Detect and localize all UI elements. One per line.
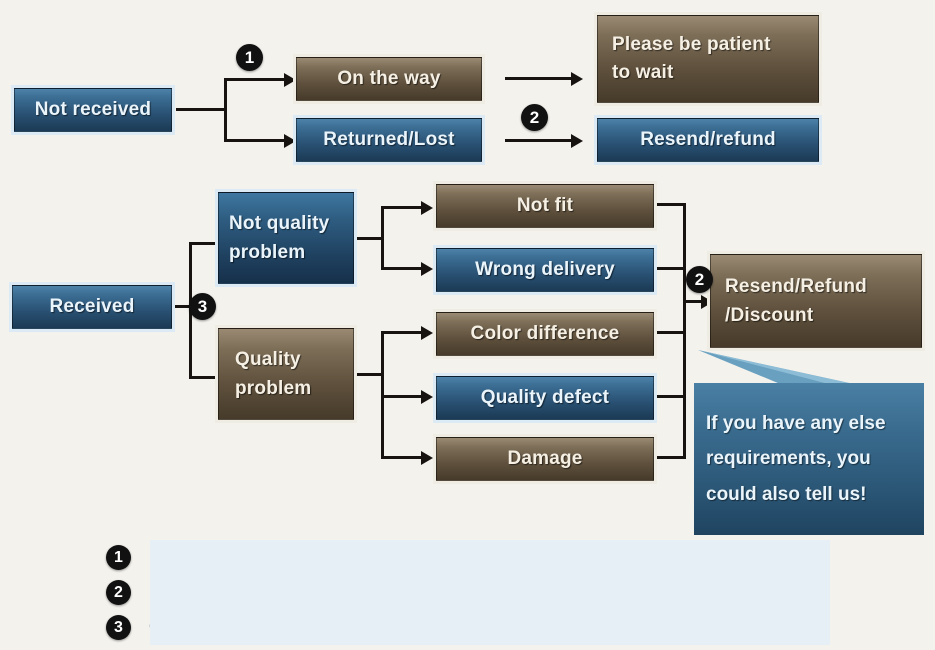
arrowhead-wrong-delivery	[421, 262, 433, 276]
connector-to-color-difference	[381, 331, 423, 334]
node-color-difference[interactable]: Color difference	[436, 312, 654, 356]
merge-stub-quality-defect	[655, 395, 685, 398]
connector-not-received-split	[224, 78, 227, 142]
node-not-received[interactable]: Not received	[14, 88, 172, 132]
legend-badge-2-number: 2	[114, 585, 123, 601]
node-resend-refund-discount-line2: /Discount	[725, 301, 813, 330]
node-not-quality-problem[interactable]: Not quality problem	[218, 192, 354, 284]
badge-step-1: 1	[236, 44, 263, 71]
node-not-fit[interactable]: Not fit	[436, 184, 654, 228]
badge-step-1-number: 1	[245, 49, 254, 66]
badge-step-2-merge-number: 2	[695, 271, 704, 288]
legend-badge-2: 2	[106, 580, 131, 605]
connector-not-quality-split	[381, 206, 384, 269]
connector-to-wrong-delivery	[381, 267, 423, 270]
callout-line3: could also tell us!	[706, 477, 912, 512]
connector-returned-to-resend	[505, 139, 573, 142]
badge-step-2-top: 2	[521, 104, 548, 131]
badge-step-3: 3	[189, 293, 216, 320]
connector-to-not-fit	[381, 206, 423, 209]
callout-extra-requirements: If you have any else requirements, you c…	[694, 383, 924, 535]
node-wrong-delivery[interactable]: Wrong delivery	[436, 248, 654, 292]
connector-quality-stem	[355, 373, 383, 376]
badge-step-3-number: 3	[198, 298, 207, 315]
merge-stub-wrong-delivery	[655, 267, 685, 270]
connector-to-on-the-way	[224, 78, 286, 81]
arrowhead-patient	[571, 72, 583, 86]
node-please-be-patient[interactable]: Please be patient to wait	[597, 15, 819, 103]
node-returned-lost-label: Returned/Lost	[323, 129, 454, 151]
node-quality-defect[interactable]: Quality defect	[436, 376, 654, 420]
node-not-received-label: Not received	[35, 99, 151, 121]
connector-to-damage	[381, 456, 423, 459]
arrowhead-returned-lost	[284, 134, 296, 148]
legend-badge-3: 3	[106, 615, 131, 640]
legend-badge-3-number: 3	[114, 620, 123, 636]
arrowhead-resend-refund	[571, 134, 583, 148]
node-resend-refund-discount-line1: Resend/Refund	[725, 272, 867, 301]
node-received-label: Received	[49, 296, 134, 318]
node-damage[interactable]: Damage	[436, 437, 654, 481]
arrowhead-damage	[421, 451, 433, 465]
node-on-the-way[interactable]: On the way	[296, 57, 482, 101]
badge-step-2-merge: 2	[686, 266, 713, 293]
node-quality-problem-line2: problem	[235, 374, 311, 403]
arrowhead-not-fit	[421, 201, 433, 215]
node-quality-problem[interactable]: Quality problem	[218, 328, 354, 420]
node-quality-problem-line1: Quality	[235, 345, 301, 374]
node-wrong-delivery-label: Wrong delivery	[475, 259, 615, 281]
callout-line1: If you have any else	[706, 406, 912, 441]
connector-on-the-way-to-patient	[505, 77, 573, 80]
node-quality-defect-label: Quality defect	[481, 387, 609, 409]
arrowhead-color-difference	[421, 326, 433, 340]
flowchart-canvas: Not received 1 On the way Returned/Lost …	[0, 0, 935, 650]
arrowhead-on-the-way	[284, 73, 296, 87]
node-returned-lost[interactable]: Returned/Lost	[296, 118, 482, 162]
connector-to-returned-lost	[224, 139, 286, 142]
badge-step-2-top-number: 2	[530, 109, 539, 126]
merge-stub-damage	[655, 456, 685, 459]
merge-bus-vertical	[683, 203, 686, 459]
legend-badge-1-number: 1	[114, 550, 123, 566]
node-resend-refund-label: Resend/refund	[640, 129, 776, 151]
node-not-quality-problem-line2: problem	[229, 238, 305, 267]
node-not-quality-problem-line1: Not quality	[229, 209, 329, 238]
node-not-fit-label: Not fit	[517, 195, 573, 217]
node-resend-refund-discount[interactable]: Resend/Refund /Discount	[710, 254, 922, 348]
merge-stub-not-fit	[655, 203, 685, 206]
legend-badge-1: 1	[106, 545, 131, 570]
connector-not-quality-stem	[355, 237, 383, 240]
node-on-the-way-label: On the way	[337, 68, 440, 90]
callout-line2: requirements, you	[706, 441, 912, 476]
node-color-difference-label: Color difference	[471, 323, 620, 345]
node-damage-label: Damage	[507, 448, 582, 470]
arrowhead-quality-defect	[421, 390, 433, 404]
node-please-be-patient-line1: Please be patient	[612, 31, 771, 60]
legend-panel	[150, 540, 830, 645]
node-resend-refund[interactable]: Resend/refund	[597, 118, 819, 162]
merge-stub-color-difference	[655, 331, 685, 334]
connector-to-quality-defect	[381, 395, 423, 398]
node-received[interactable]: Received	[12, 285, 172, 329]
connector-not-received-stem	[176, 108, 226, 111]
node-please-be-patient-line2: to wait	[612, 59, 674, 88]
